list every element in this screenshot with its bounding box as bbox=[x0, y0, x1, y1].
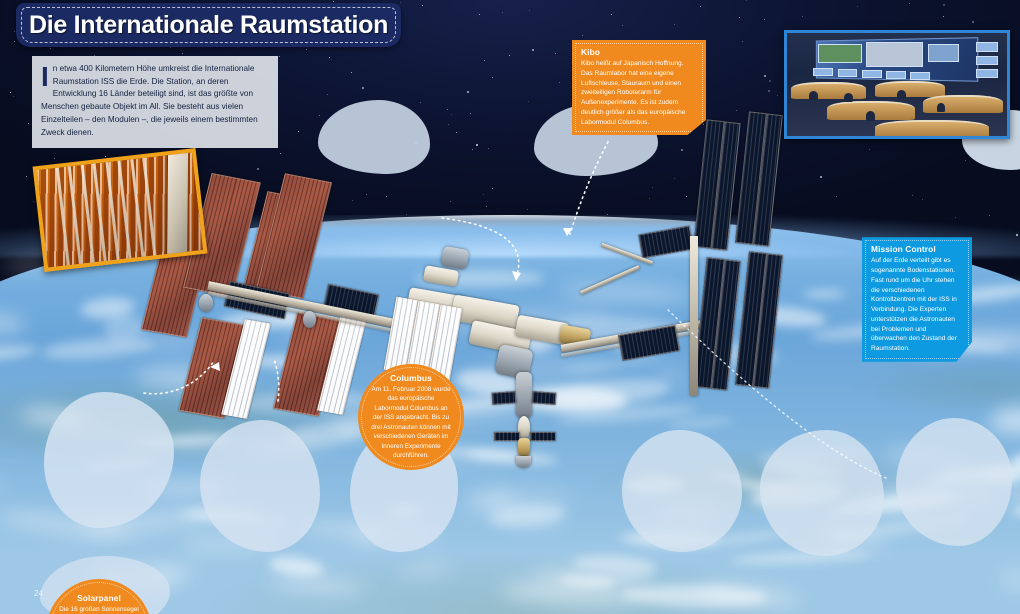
infographic-page: Die Internationale Raumstation In etwa 4… bbox=[0, 0, 1020, 614]
mission-control-room-photo bbox=[784, 30, 1010, 139]
decorative-blob bbox=[622, 430, 742, 552]
intro-paragraph: In etwa 400 Kilometern Höhe umkreist die… bbox=[32, 56, 278, 148]
callout-columbus-title: Columbus bbox=[390, 373, 432, 383]
callout-columbus[interactable]: Columbus Am 11. Februar 2008 wurde das e… bbox=[358, 364, 464, 470]
callout-mission-control[interactable]: Mission Control Auf der Erde verteilt gi… bbox=[862, 237, 972, 362]
intro-dropcap: I bbox=[41, 63, 53, 89]
callout-columbus-text: Am 11. Februar 2008 wurde das europäisch… bbox=[370, 385, 452, 461]
page-title-banner: Die Internationale Raumstation bbox=[16, 3, 401, 47]
callout-kibo-title: Kibo bbox=[581, 47, 697, 57]
callout-mission-control-title: Mission Control bbox=[871, 244, 963, 254]
callout-solarpanel-text: Die 16 großen Sonnensegel fangen das Lic… bbox=[58, 605, 140, 614]
solar-panel-photo bbox=[33, 148, 208, 272]
page-title: Die Internationale Raumstation bbox=[29, 11, 388, 40]
page-number: 24 bbox=[34, 589, 43, 598]
callout-mission-control-text: Auf der Erde verteilt gibt es sogenannte… bbox=[871, 256, 963, 354]
callout-kibo[interactable]: Kibo Kibo heißt auf Japanisch Hoffnung. … bbox=[572, 40, 706, 135]
decorative-blob bbox=[896, 418, 1012, 546]
callout-solarpanel-title: Solarpanel bbox=[77, 593, 121, 603]
callout-kibo-text: Kibo heißt auf Japanisch Hoffnung. Das R… bbox=[581, 59, 697, 127]
intro-text: n etwa 400 Kilometern Höhe umkreist die … bbox=[41, 64, 258, 137]
